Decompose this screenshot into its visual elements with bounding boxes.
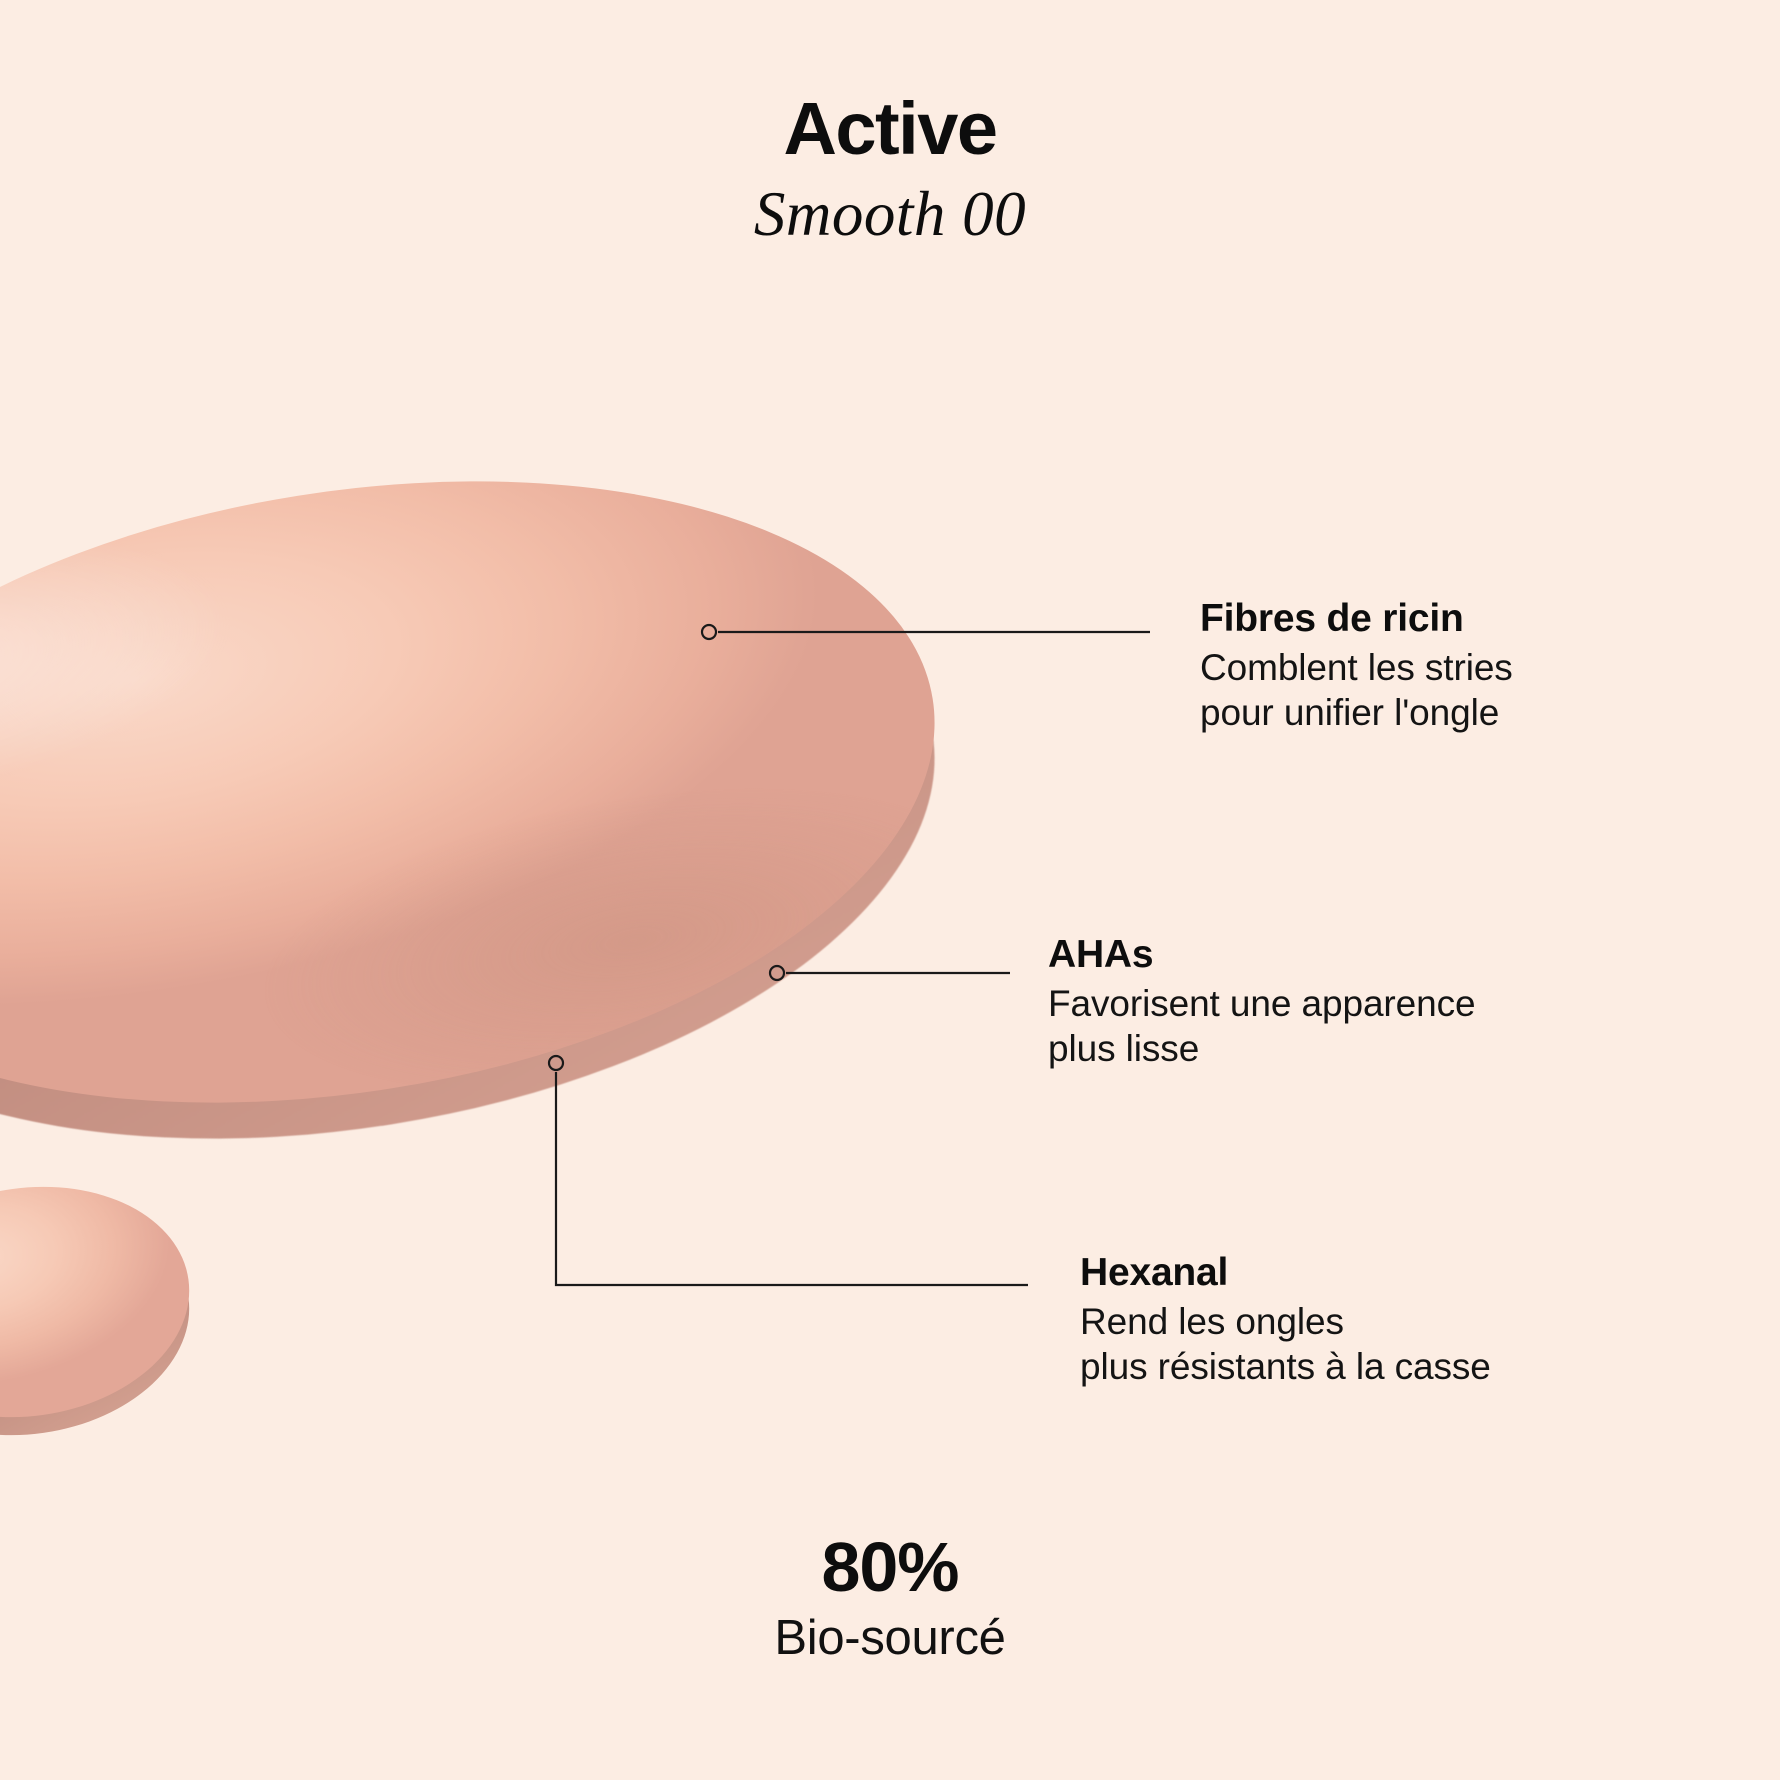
callout-line-hexanal [556,1072,1028,1285]
callout-body-line-1: Rend les ongles [1080,1300,1491,1345]
page-subtitle: Smooth 00 [0,174,1780,255]
page-title: Active [0,92,1780,166]
infographic-canvas: Active Smooth 00 Fibres de ricin Comblen… [0,0,1780,1780]
callout-hexanal: Hexanal Rend les ongles plus résistants … [1080,1250,1491,1390]
callout-marker-fibres-de-ricin [702,625,716,639]
header: Active Smooth 00 [0,92,1780,255]
callout-body-line-2: plus résistants à la casse [1080,1345,1491,1390]
bio-sourced-percentage: 80% [0,1530,1780,1604]
callout-leader-lines [0,0,1780,1780]
callout-body-line-2: pour unifier l'ongle [1200,691,1513,736]
callout-title: AHAs [1048,932,1476,978]
callout-marker-hexanal [549,1056,563,1070]
footer-stat: 80% Bio-sourcé [0,1530,1780,1668]
callout-body-line-1: Comblent les stries [1200,646,1513,691]
callout-marker-ahas [770,966,784,980]
callout-fibres-de-ricin: Fibres de ricin Comblent les stries pour… [1200,596,1513,736]
callout-body-line-1: Favorisent une apparence [1048,982,1476,1027]
callout-ahas: AHAs Favorisent une apparence plus lisse [1048,932,1476,1072]
bio-sourced-label: Bio-sourcé [0,1610,1780,1668]
callout-title: Fibres de ricin [1200,596,1513,642]
callout-title: Hexanal [1080,1250,1491,1296]
callout-body-line-2: plus lisse [1048,1027,1476,1072]
